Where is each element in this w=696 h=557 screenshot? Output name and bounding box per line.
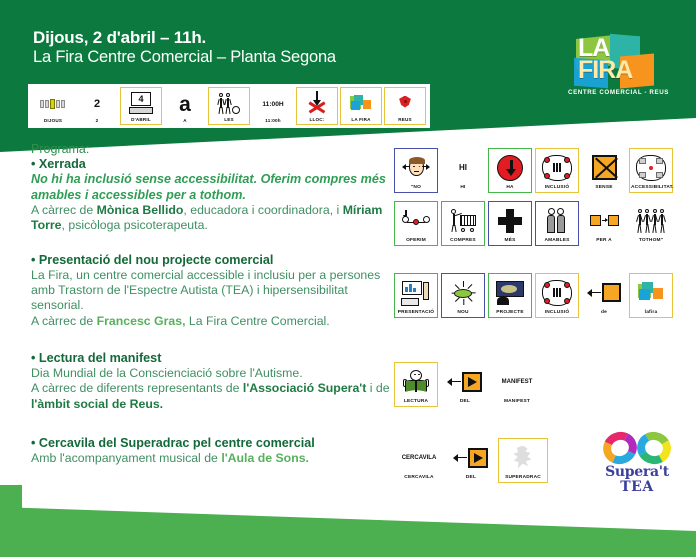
header-pictogram-strip: DIJOUS 2 2 4 D'ABRIL a A bbox=[28, 84, 430, 128]
block-title: • Cercavila del Superadrac pel centre co… bbox=[31, 436, 391, 451]
pictogram-projecte: PROJECTE bbox=[488, 273, 532, 318]
pictogram-caption: AMABLES bbox=[537, 239, 577, 244]
two-people-icon bbox=[210, 90, 248, 116]
pictogram-row-xerrada-2: OFERIM COMPRES MÉS AMABLES PER A bbox=[394, 201, 673, 246]
credit-suffix: La Fira Centre Comercial. bbox=[186, 314, 330, 328]
credit-prefix: A càrrec de bbox=[31, 314, 97, 328]
word-cercavila-icon: CERCAVILA bbox=[396, 441, 442, 474]
pictogram-lloc: LLOC: bbox=[296, 87, 338, 125]
pictogram-sense: SENSE bbox=[582, 148, 626, 193]
program-text-column: Programa: • Xerrada No hi ha inclusió se… bbox=[31, 142, 391, 476]
pictogram-caption: MÉS bbox=[490, 239, 530, 244]
program-block-lectura: • Lectura del manifest Dia Mundial de la… bbox=[31, 351, 391, 412]
pictogram-caption: INCLUSIÓ bbox=[537, 186, 577, 191]
block-title: • Lectura del manifest bbox=[31, 351, 391, 366]
pictogram-caption: LLOC: bbox=[309, 118, 324, 123]
pictogram-caption: CERCAVILA bbox=[396, 476, 442, 481]
pictogram-presentacio: PRESENTACIÓ bbox=[394, 273, 438, 318]
tea-logo-line1: Supera't bbox=[598, 465, 676, 480]
pictogram-accessibilitat: ACCESSIBILITAT. bbox=[629, 148, 673, 193]
pictogram-row-presentacio: PRESENTACIÓ NOU PROJECTE bbox=[394, 273, 673, 318]
projector-screen-icon bbox=[490, 276, 530, 309]
letter-a-icon: a bbox=[165, 91, 205, 117]
pictogram-caption: "NO bbox=[396, 186, 436, 191]
pictogram-caption: REUS bbox=[398, 118, 412, 123]
pictogram-caption: SENSE bbox=[584, 186, 624, 191]
arrow-down-red-x-icon bbox=[298, 90, 336, 116]
pictogram-inclusio-2: INCLUSIÓ bbox=[535, 273, 579, 318]
lafira-logo: LA FIRA CENTRE COMERCIAL - REUS bbox=[566, 33, 674, 95]
pictogram-caption: PER A bbox=[584, 239, 624, 244]
pictogram-nou: NOU bbox=[441, 273, 485, 318]
pictogram-caption: PROJECTE bbox=[490, 311, 530, 316]
pictogram-time: 11:00H 11:00h bbox=[252, 89, 294, 125]
lafira-logo-tagline: CENTRE COMERCIAL - REUS bbox=[568, 89, 669, 96]
pictogram-caption: NOU bbox=[443, 311, 483, 316]
new-shine-icon bbox=[443, 276, 483, 309]
pictogram-number-two: 2 2 bbox=[76, 89, 118, 125]
pictogram-hi: HI HI bbox=[441, 148, 485, 193]
time-glyph: 11:00H bbox=[262, 101, 283, 108]
word-manifest-glyph: MANIFEST bbox=[502, 379, 533, 385]
pictogram-caption: DIJOUS bbox=[44, 119, 62, 124]
accessibility-net-icon bbox=[631, 151, 671, 184]
calendar-week-strip-icon bbox=[33, 91, 73, 117]
plus-sign-icon bbox=[490, 204, 530, 237]
pictogram-caption: lafira bbox=[631, 311, 671, 316]
pictogram-caption: HA bbox=[490, 186, 530, 191]
program-block-xerrada: • Xerrada No hi ha inclusió sense access… bbox=[31, 157, 391, 234]
credit-prefix: A càrrec de bbox=[31, 203, 97, 217]
credit-middle: i de bbox=[366, 381, 389, 395]
pictogram-les: LES bbox=[208, 87, 250, 125]
letter-a-glyph: a bbox=[179, 94, 191, 115]
pictogram-caption: COMPRES bbox=[443, 239, 483, 244]
pictogram-manifest: MANIFEST MANIFEST bbox=[492, 362, 542, 407]
pictogram-row-lectura: LECTURA DEL MANIFEST MANIFEST bbox=[394, 362, 542, 407]
pictogram-row-xerrada-1: "NO HI HI HA INCLUSIÓ SENSE bbox=[394, 148, 673, 193]
credit-name-1: l'Aula de Sons. bbox=[221, 451, 309, 465]
credit-name-2: l'àmbit social de Reus. bbox=[31, 397, 163, 411]
block-credit: A càrrec de Francesc Gras, La Fira Centr… bbox=[31, 314, 391, 329]
lafira-mini-logo-icon bbox=[631, 276, 671, 309]
pictogram-dabril: 4 D'ABRIL bbox=[120, 87, 162, 125]
program-block-presentacio: • Presentació del nou projecte comercial… bbox=[31, 253, 391, 329]
linked-boxes-icon bbox=[584, 204, 624, 237]
credit-suffix: , psicòloga psicoterapeuta. bbox=[62, 218, 208, 232]
pictogram-dijous: DIJOUS bbox=[32, 89, 74, 125]
pictogram-caption: DEL bbox=[451, 476, 491, 481]
pictogram-caption: PRESENTACIÓ bbox=[396, 311, 436, 316]
event-location: La Fira Centre Comercial – Planta Segona bbox=[33, 48, 336, 67]
pictogram-de: de bbox=[582, 273, 626, 318]
map-pin-red-icon bbox=[386, 90, 424, 116]
pictogram-caption: HI bbox=[443, 186, 483, 191]
shopping-cart-icon bbox=[443, 204, 483, 237]
credit-middle: , educadora i coordinadora, i bbox=[183, 203, 342, 217]
pictogram-caption: 2 bbox=[96, 119, 99, 124]
pictogram-caption: INCLUSIÓ bbox=[537, 311, 577, 316]
pictogram-cercavila: CERCAVILA CERCAVILA bbox=[394, 438, 444, 483]
word-manifest-icon: MANIFEST bbox=[494, 365, 540, 398]
arrow-left-play-box-icon bbox=[445, 365, 485, 398]
crowd-of-people-icon bbox=[631, 204, 671, 237]
laptop-screen-number: 4 bbox=[131, 92, 151, 106]
poster-root: Dijous, 2 d'abril – 11h. La Fira Centre … bbox=[0, 0, 696, 557]
pictogram-compres: COMPRES bbox=[441, 201, 485, 246]
pictogram-lectura: LECTURA bbox=[394, 362, 438, 407]
head-no-arrows-icon bbox=[396, 151, 436, 184]
offering-hands-icon bbox=[396, 204, 436, 237]
pictogram-oferim: OFERIM bbox=[394, 201, 438, 246]
number-two-glyph: 2 bbox=[94, 98, 100, 110]
small-clock-icon bbox=[232, 106, 240, 114]
pictogram-del-1: DEL bbox=[443, 362, 487, 407]
lafira-mini-logo-icon bbox=[342, 90, 380, 116]
credit-name-1: l'Associació Supera't bbox=[243, 381, 366, 395]
pictogram-caption: 11:00h bbox=[265, 119, 281, 124]
credit-name-1: Francesc Gras, bbox=[97, 314, 186, 328]
pictogram-caption: de bbox=[584, 311, 624, 316]
block-credit: A càrrec de diferents representants de l… bbox=[31, 381, 391, 411]
lafira-logo-text: LA FIRA bbox=[578, 37, 632, 81]
block-title: • Xerrada bbox=[31, 157, 391, 172]
block-credit: A càrrec de Mònica Bellido, educadora i … bbox=[31, 203, 391, 233]
pictogram-tothom: TOTHOM" bbox=[629, 201, 673, 246]
block-title: • Presentació del nou projecte comercial bbox=[31, 253, 391, 268]
pictogram-caption: LECTURA bbox=[396, 400, 436, 405]
block-credit: Amb l'acompanyament musical de l'Aula de… bbox=[31, 451, 391, 466]
pictogram-row-cercavila: CERCAVILA CERCAVILA DEL SUPERADRAC bbox=[394, 438, 548, 483]
pictogram-caption: OFERIM bbox=[396, 239, 436, 244]
rainbow-infinity-icon bbox=[603, 432, 671, 464]
infinity-right-loop bbox=[633, 428, 674, 468]
red-circle-arrow-icon bbox=[490, 151, 530, 184]
event-date-time: Dijous, 2 d'abril – 11h. bbox=[33, 28, 336, 48]
word-hi-glyph: HI bbox=[459, 163, 467, 172]
arrow-left-orange-box-icon bbox=[584, 276, 624, 309]
pictogram-del-2: DEL bbox=[449, 438, 493, 483]
block-body: Dia Mundial de la Conscienciació sobre l… bbox=[31, 366, 391, 381]
pictogram-per-a: PER A bbox=[582, 201, 626, 246]
pictogram-caption: TOTHOM" bbox=[631, 239, 671, 244]
block-body: La Fira, un centre comercial accessible … bbox=[31, 268, 391, 314]
credit-name-1: Mònica Bellido bbox=[97, 203, 184, 217]
header-title-group: Dijous, 2 d'abril – 11h. La Fira Centre … bbox=[33, 28, 336, 68]
pictogram-lafira: LA FIRA bbox=[340, 87, 382, 125]
pictogram-caption: LES bbox=[224, 118, 234, 123]
superat-tea-logo: Supera't TEA bbox=[598, 432, 676, 498]
crossed-box-icon bbox=[584, 151, 624, 184]
footer-diagonal-band bbox=[0, 495, 696, 557]
number-two-icon: 2 bbox=[77, 91, 117, 117]
pictogram-inclusio-1: INCLUSIÓ bbox=[535, 148, 579, 193]
pictogram-ha: HA bbox=[488, 148, 532, 193]
block-emphasis: No hi ha inclusió sense accessibilitat. … bbox=[31, 172, 391, 203]
infinity-left-loop bbox=[599, 427, 642, 469]
inclusion-group-icon bbox=[537, 276, 577, 309]
person-reading-book-icon bbox=[396, 365, 436, 398]
inclusion-group-icon bbox=[537, 151, 577, 184]
laptop-base bbox=[129, 107, 153, 114]
pictogram-caption: SUPERADRAC bbox=[500, 476, 546, 481]
pictogram-amables: AMABLES bbox=[535, 201, 579, 246]
pictogram-lafira-2: lafira bbox=[629, 273, 673, 318]
clock-icon: 11:00H bbox=[253, 91, 293, 117]
program-label: Programa: bbox=[31, 142, 391, 156]
arrow-left-play-box-icon bbox=[451, 441, 491, 474]
pictogram-no: "NO bbox=[394, 148, 438, 193]
two-friends-icon bbox=[537, 204, 577, 237]
pictogram-caption: MANIFEST bbox=[494, 400, 540, 405]
laptop-calendar-icon: 4 bbox=[122, 90, 160, 116]
pictogram-a: a A bbox=[164, 89, 206, 125]
word-cercavila-glyph: CERCAVILA bbox=[402, 455, 437, 461]
presentation-board-icon bbox=[396, 276, 436, 309]
logo-word-fira: FIRA bbox=[578, 59, 632, 81]
pictogram-reus: REUS bbox=[384, 87, 426, 125]
pictogram-caption: D'ABRIL bbox=[131, 118, 151, 123]
dragon-icon bbox=[500, 441, 546, 474]
pictogram-caption: DEL bbox=[445, 400, 485, 405]
pictogram-superadrac: SUPERADRAC bbox=[498, 438, 548, 483]
pictogram-caption: ACCESSIBILITAT. bbox=[631, 186, 671, 191]
pictogram-caption: LA FIRA bbox=[351, 118, 370, 123]
credit-prefix: A càrrec de diferents representants de bbox=[31, 381, 243, 395]
pictogram-mes: MÉS bbox=[488, 201, 532, 246]
credit-prefix: Amb l'acompanyament musical de bbox=[31, 451, 221, 465]
program-block-cercavila: • Cercavila del Superadrac pel centre co… bbox=[31, 436, 391, 467]
tea-logo-line2: TEA bbox=[598, 480, 676, 495]
pictogram-caption: A bbox=[183, 119, 187, 124]
word-hi-icon: HI bbox=[443, 151, 483, 184]
